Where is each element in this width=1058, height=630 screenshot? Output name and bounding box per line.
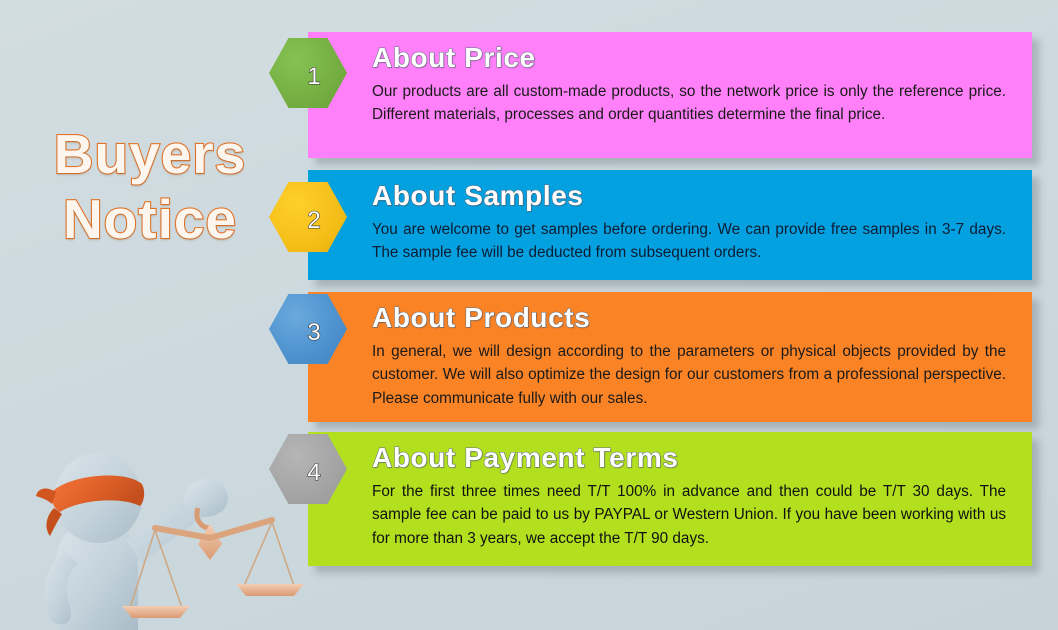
scales-right-pan — [236, 584, 304, 596]
notice-panel-3: About Products In general, we will desig… — [308, 292, 1032, 422]
justice-figure-illustration — [22, 412, 307, 630]
panel-1-heading: About Price — [372, 42, 1006, 74]
title-line-2: Notice — [30, 187, 270, 252]
title-line-1: Buyers — [30, 122, 270, 187]
hexagon-badge-2-number: 2 — [307, 207, 320, 235]
page-title: Buyers Notice — [30, 122, 270, 252]
hexagon-badge-1-number: 1 — [307, 63, 320, 91]
panel-3-body: In general, we will design according to … — [372, 340, 1006, 410]
panel-4-heading: About Payment Terms — [372, 442, 1006, 474]
notice-panel-2: About Samples You are welcome to get sam… — [308, 170, 1032, 280]
infographic-canvas: Buyers Notice About Price Our products a… — [0, 0, 1058, 630]
hexagon-badge-4-number: 4 — [307, 459, 320, 487]
scales-left-pan — [122, 606, 190, 618]
scales-right-strings — [244, 522, 294, 586]
panel-2-body: You are welcome to get samples before or… — [372, 218, 1006, 265]
panel-2-heading: About Samples — [372, 180, 1006, 212]
panel-3-heading: About Products — [372, 302, 1006, 334]
notice-panel-1: About Price Our products are all custom-… — [308, 32, 1032, 158]
hexagon-badge-3-number: 3 — [307, 319, 320, 347]
figure-fist — [184, 479, 228, 517]
panel-4-body: For the first three times need T/T 100% … — [372, 480, 1006, 550]
scales-pendant — [198, 524, 222, 560]
notice-panel-4: About Payment Terms For the first three … — [308, 432, 1032, 566]
panel-1-body: Our products are all custom-made product… — [372, 80, 1006, 127]
